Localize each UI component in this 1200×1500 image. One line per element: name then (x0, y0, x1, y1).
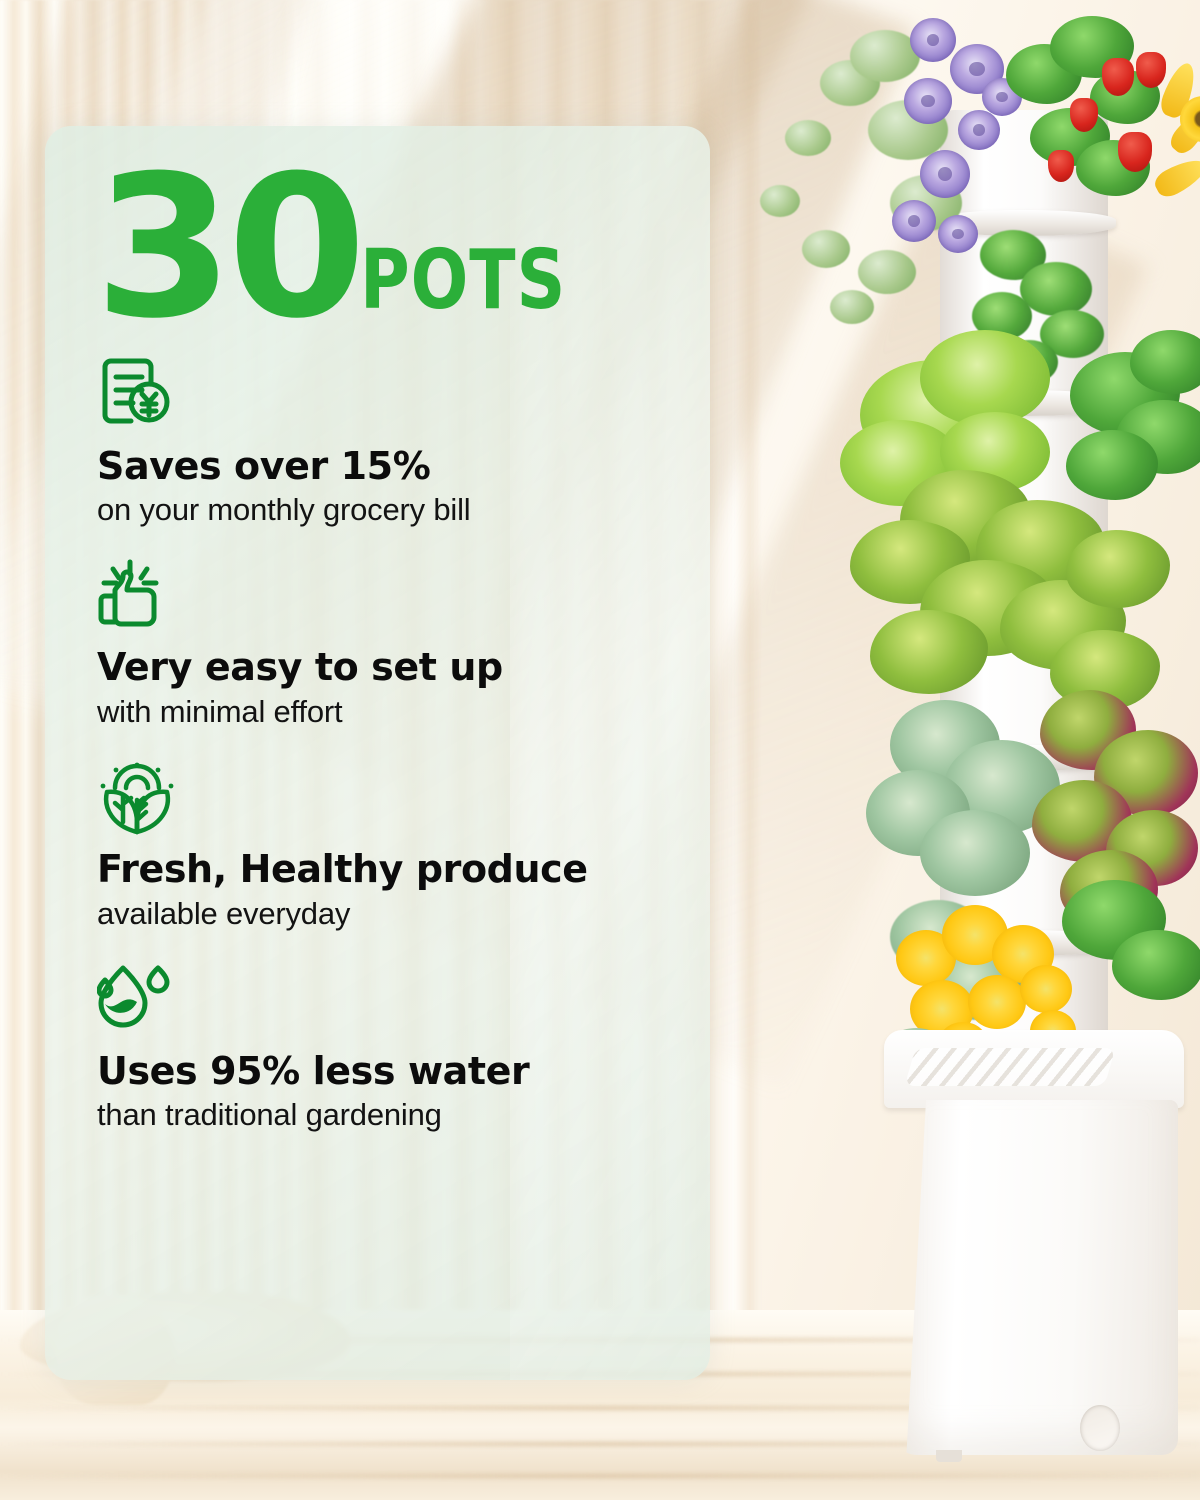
base-top-tray (884, 1030, 1184, 1108)
feature-subtitle: on your monthly grocery bill (97, 491, 677, 528)
base-drain-grill (905, 1048, 1116, 1086)
feature-item: Fresh, Healthy produce available everyda… (97, 760, 677, 932)
feature-title: Uses 95% less water (97, 1050, 677, 1093)
feature-item: Very easy to set up with minimal effort (97, 558, 677, 730)
feature-item: Saves over 15% on your monthly grocery b… (97, 357, 677, 529)
feature-subtitle: available everyday (97, 895, 677, 932)
tower-base-reservoir (884, 1030, 1184, 1470)
feature-title: Saves over 15% (97, 445, 677, 488)
water-drop-icon (97, 962, 677, 1038)
thumbs-up-icon (97, 558, 677, 634)
headline-word: POTS (360, 247, 566, 328)
hydroponic-tower-photo (880, 0, 1200, 1500)
feature-panel: 30 POTS (45, 126, 710, 1380)
receipt-yen-icon (97, 357, 677, 433)
feature-item: Uses 95% less water than traditional gar… (97, 962, 677, 1134)
product-feature-graphic: 30 POTS (0, 0, 1200, 1500)
headline: 30 POTS (97, 168, 677, 329)
headline-number: 30 (94, 168, 360, 329)
base-foot (936, 1450, 962, 1462)
feature-title: Fresh, Healthy produce (97, 848, 677, 891)
feature-subtitle: than traditional gardening (97, 1096, 677, 1133)
feature-title: Very easy to set up (97, 646, 677, 689)
leaves-sunrise-icon (97, 760, 677, 836)
base-water-level-hole (1080, 1405, 1120, 1451)
feature-subtitle: with minimal effort (97, 693, 677, 730)
base-body (898, 1100, 1178, 1455)
